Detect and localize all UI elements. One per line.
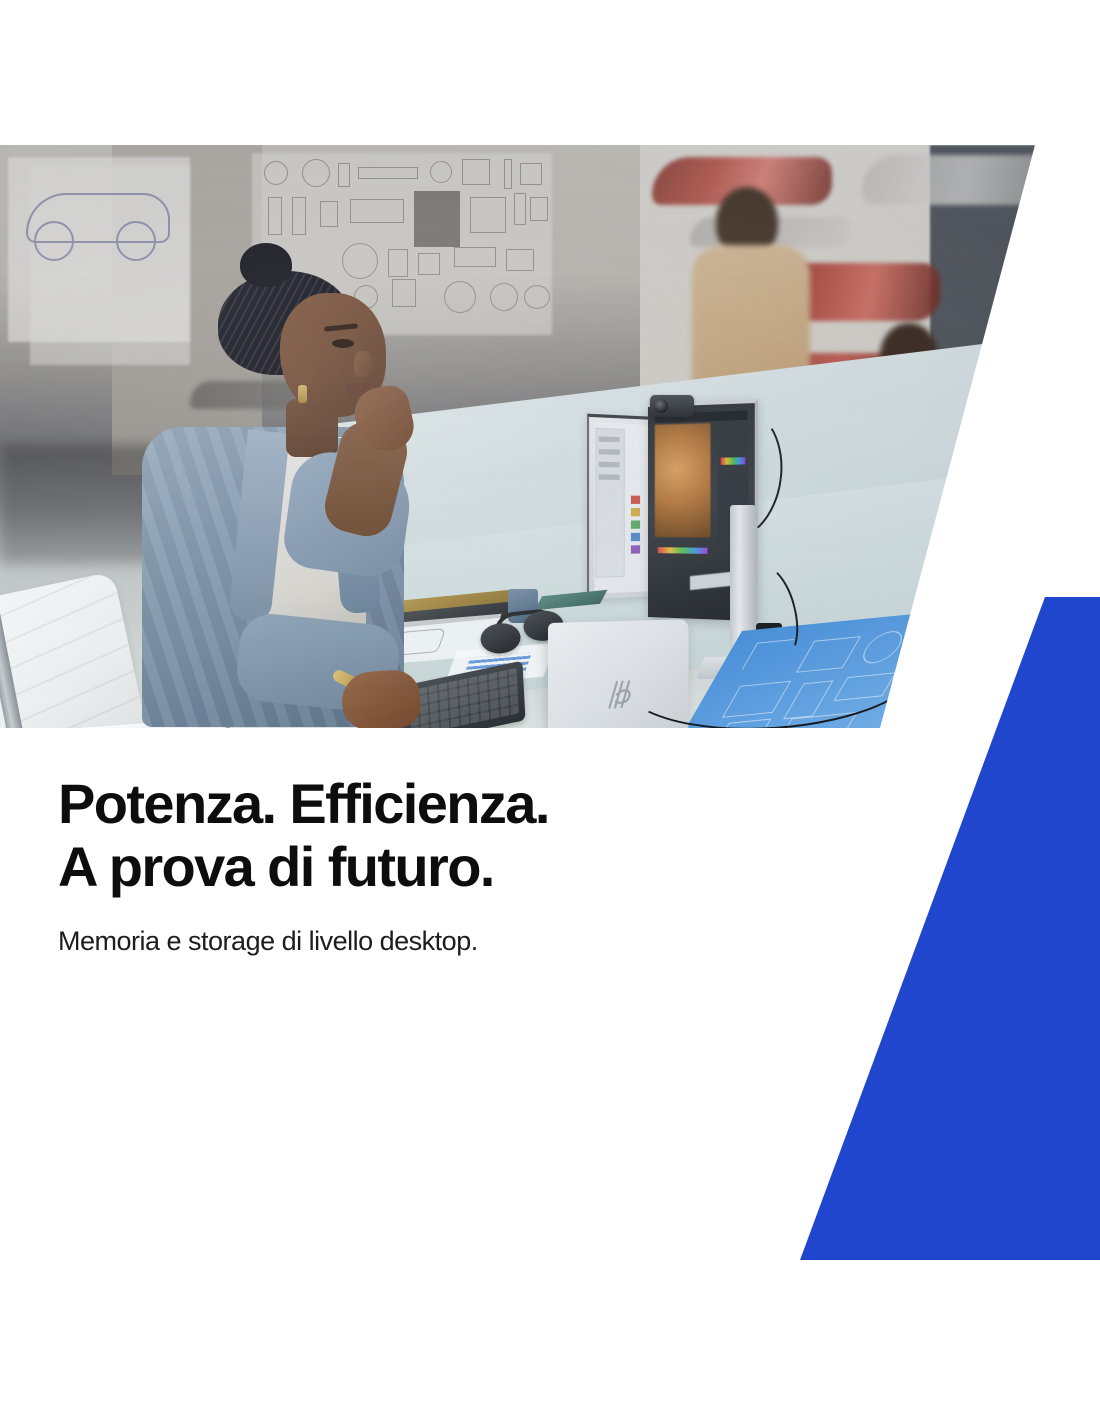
page-title: Potenza. Efficienza. A prova di futuro. xyxy=(58,772,758,899)
woman-hand-on-mouse xyxy=(340,668,422,728)
page-canvas: Potenza. Efficienza. A prova di futuro. … xyxy=(0,0,1100,1422)
car-rendering-grey-2 xyxy=(862,155,1052,205)
person-seated-woman xyxy=(120,241,480,728)
webcam-lens-icon xyxy=(654,399,668,413)
hero-image xyxy=(0,145,1100,728)
photo-scene xyxy=(0,145,1100,728)
webcam xyxy=(650,395,694,417)
headline-line-2: A prova di futuro. xyxy=(58,835,758,898)
headline-line-1: Potenza. Efficienza. xyxy=(58,772,758,835)
woman-earring xyxy=(298,385,307,403)
page-subtitle: Memoria e storage di livello desktop. xyxy=(58,925,758,959)
woman-hair-bun xyxy=(240,243,292,287)
copy-block: Potenza. Efficienza. A prova di futuro. … xyxy=(58,772,758,958)
